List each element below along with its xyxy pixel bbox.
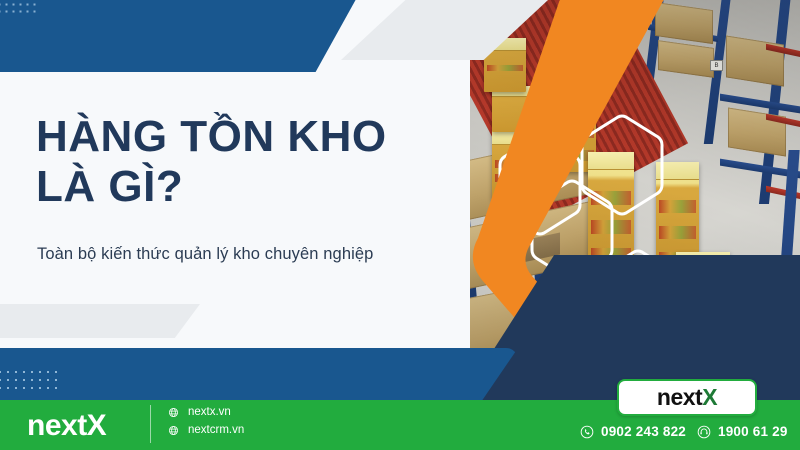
footer-phone-hotline[interactable]: 1900 61 29	[697, 424, 788, 439]
headline-line-1: HÀNG TỒN KHO	[36, 112, 466, 162]
phone-circle-icon	[580, 425, 594, 439]
headline-line-2: LÀ GÌ?	[36, 162, 466, 212]
footer-site-label: nextx.vn	[188, 406, 231, 418]
logo-badge[interactable]: nextX	[617, 379, 757, 416]
footer-phone-label: 1900 61 29	[718, 424, 788, 439]
gray-accent-mid	[0, 304, 200, 338]
hotline-icon	[697, 425, 711, 439]
footer-phone-label: 0902 243 822	[601, 424, 686, 439]
footer-phone-mobile[interactable]: 0902 243 822	[580, 424, 686, 439]
footer-site-nextcrm[interactable]: nextcrm.vn	[168, 424, 244, 436]
footer-site-label: nextcrm.vn	[188, 424, 244, 436]
top-blue-band	[0, 0, 360, 72]
dot-pattern-icon	[0, 368, 62, 394]
footer-divider	[150, 405, 151, 443]
inventory-infographic-banner: B A	[0, 0, 800, 450]
footer-brand-logo: nextX	[27, 409, 106, 443]
page-title: HÀNG TỒN KHO LÀ GÌ?	[36, 112, 466, 212]
dot-pattern-icon	[0, 0, 38, 16]
logo-badge-text-dark: next	[657, 384, 702, 411]
footer-site-nextx[interactable]: nextx.vn	[168, 406, 231, 418]
logo-badge-text-green: X	[702, 384, 717, 411]
globe-icon	[168, 407, 179, 418]
globe-icon	[168, 425, 179, 436]
page-subtitle: Toàn bộ kiến thức quản lý kho chuyên ngh…	[37, 245, 373, 264]
bottom-blue-band	[0, 348, 518, 402]
